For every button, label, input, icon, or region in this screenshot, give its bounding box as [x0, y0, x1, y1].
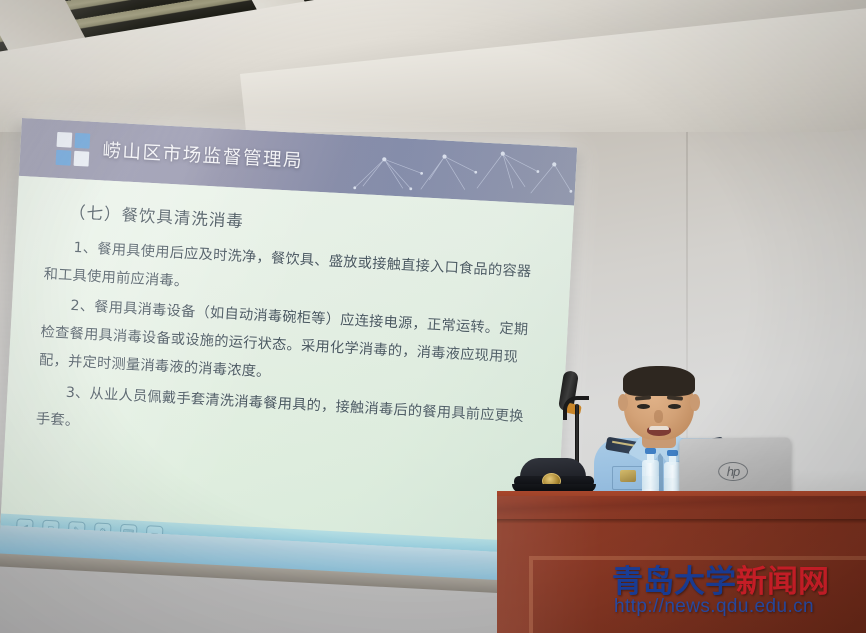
watermark: 青岛大学新闻网 http://news.qdu.edu.cn — [612, 556, 860, 626]
logo-quadrant-bottom-right — [74, 151, 90, 167]
bottle-neck — [669, 455, 676, 465]
logo-quadrant-top-right — [74, 133, 90, 149]
watermark-title-blue: 青岛大学 — [612, 564, 736, 600]
peaked-uniform-cap — [512, 458, 596, 492]
nose — [654, 410, 663, 423]
bottle-cap — [667, 450, 678, 456]
presenter-hair — [623, 366, 695, 396]
four-square-logo — [56, 132, 91, 167]
bottle-cap — [645, 448, 656, 454]
chest-badge — [620, 470, 636, 482]
teeth — [649, 426, 669, 430]
watermark-title: 青岛大学新闻网 — [612, 556, 860, 601]
projected-slide: 崂山区市场监督管理局 （七）餐饮具清洗消毒 1、餐用具使用后应及时洗净，餐饮具、… — [0, 118, 577, 555]
slide-org-name: 崂山区市场监督管理局 — [102, 136, 304, 173]
eye-left — [637, 404, 650, 409]
slatted-ceiling — [0, 0, 866, 132]
watermark-title-red: 新闻网 — [736, 564, 829, 600]
logo-quadrant-bottom-left — [56, 150, 72, 166]
bottle-neck — [647, 453, 654, 463]
logo-quadrant-top-left — [57, 132, 73, 148]
projection-screen: 崂山区市场监督管理局 （七）餐饮具清洗消毒 1、餐用具使用后应及时洗净，餐饮具、… — [0, 118, 581, 609]
bottle-label — [642, 476, 659, 489]
ear-right — [690, 394, 700, 411]
hp-logo-icon: hp — [718, 462, 748, 481]
watermark-url: http://news.qdu.edu.cn — [614, 596, 814, 618]
ear-left — [618, 394, 628, 411]
lecture-hall-scene: 崂山区市场监督管理局 （七）餐饮具清洗消毒 1、餐用具使用后应及时洗净，餐饮具、… — [0, 0, 866, 633]
eye-right — [668, 404, 681, 409]
slide-body: （七）餐饮具清洗消毒 1、餐用具使用后应及时洗净，餐饮具、盛放或接触直接入口食品… — [0, 176, 574, 555]
